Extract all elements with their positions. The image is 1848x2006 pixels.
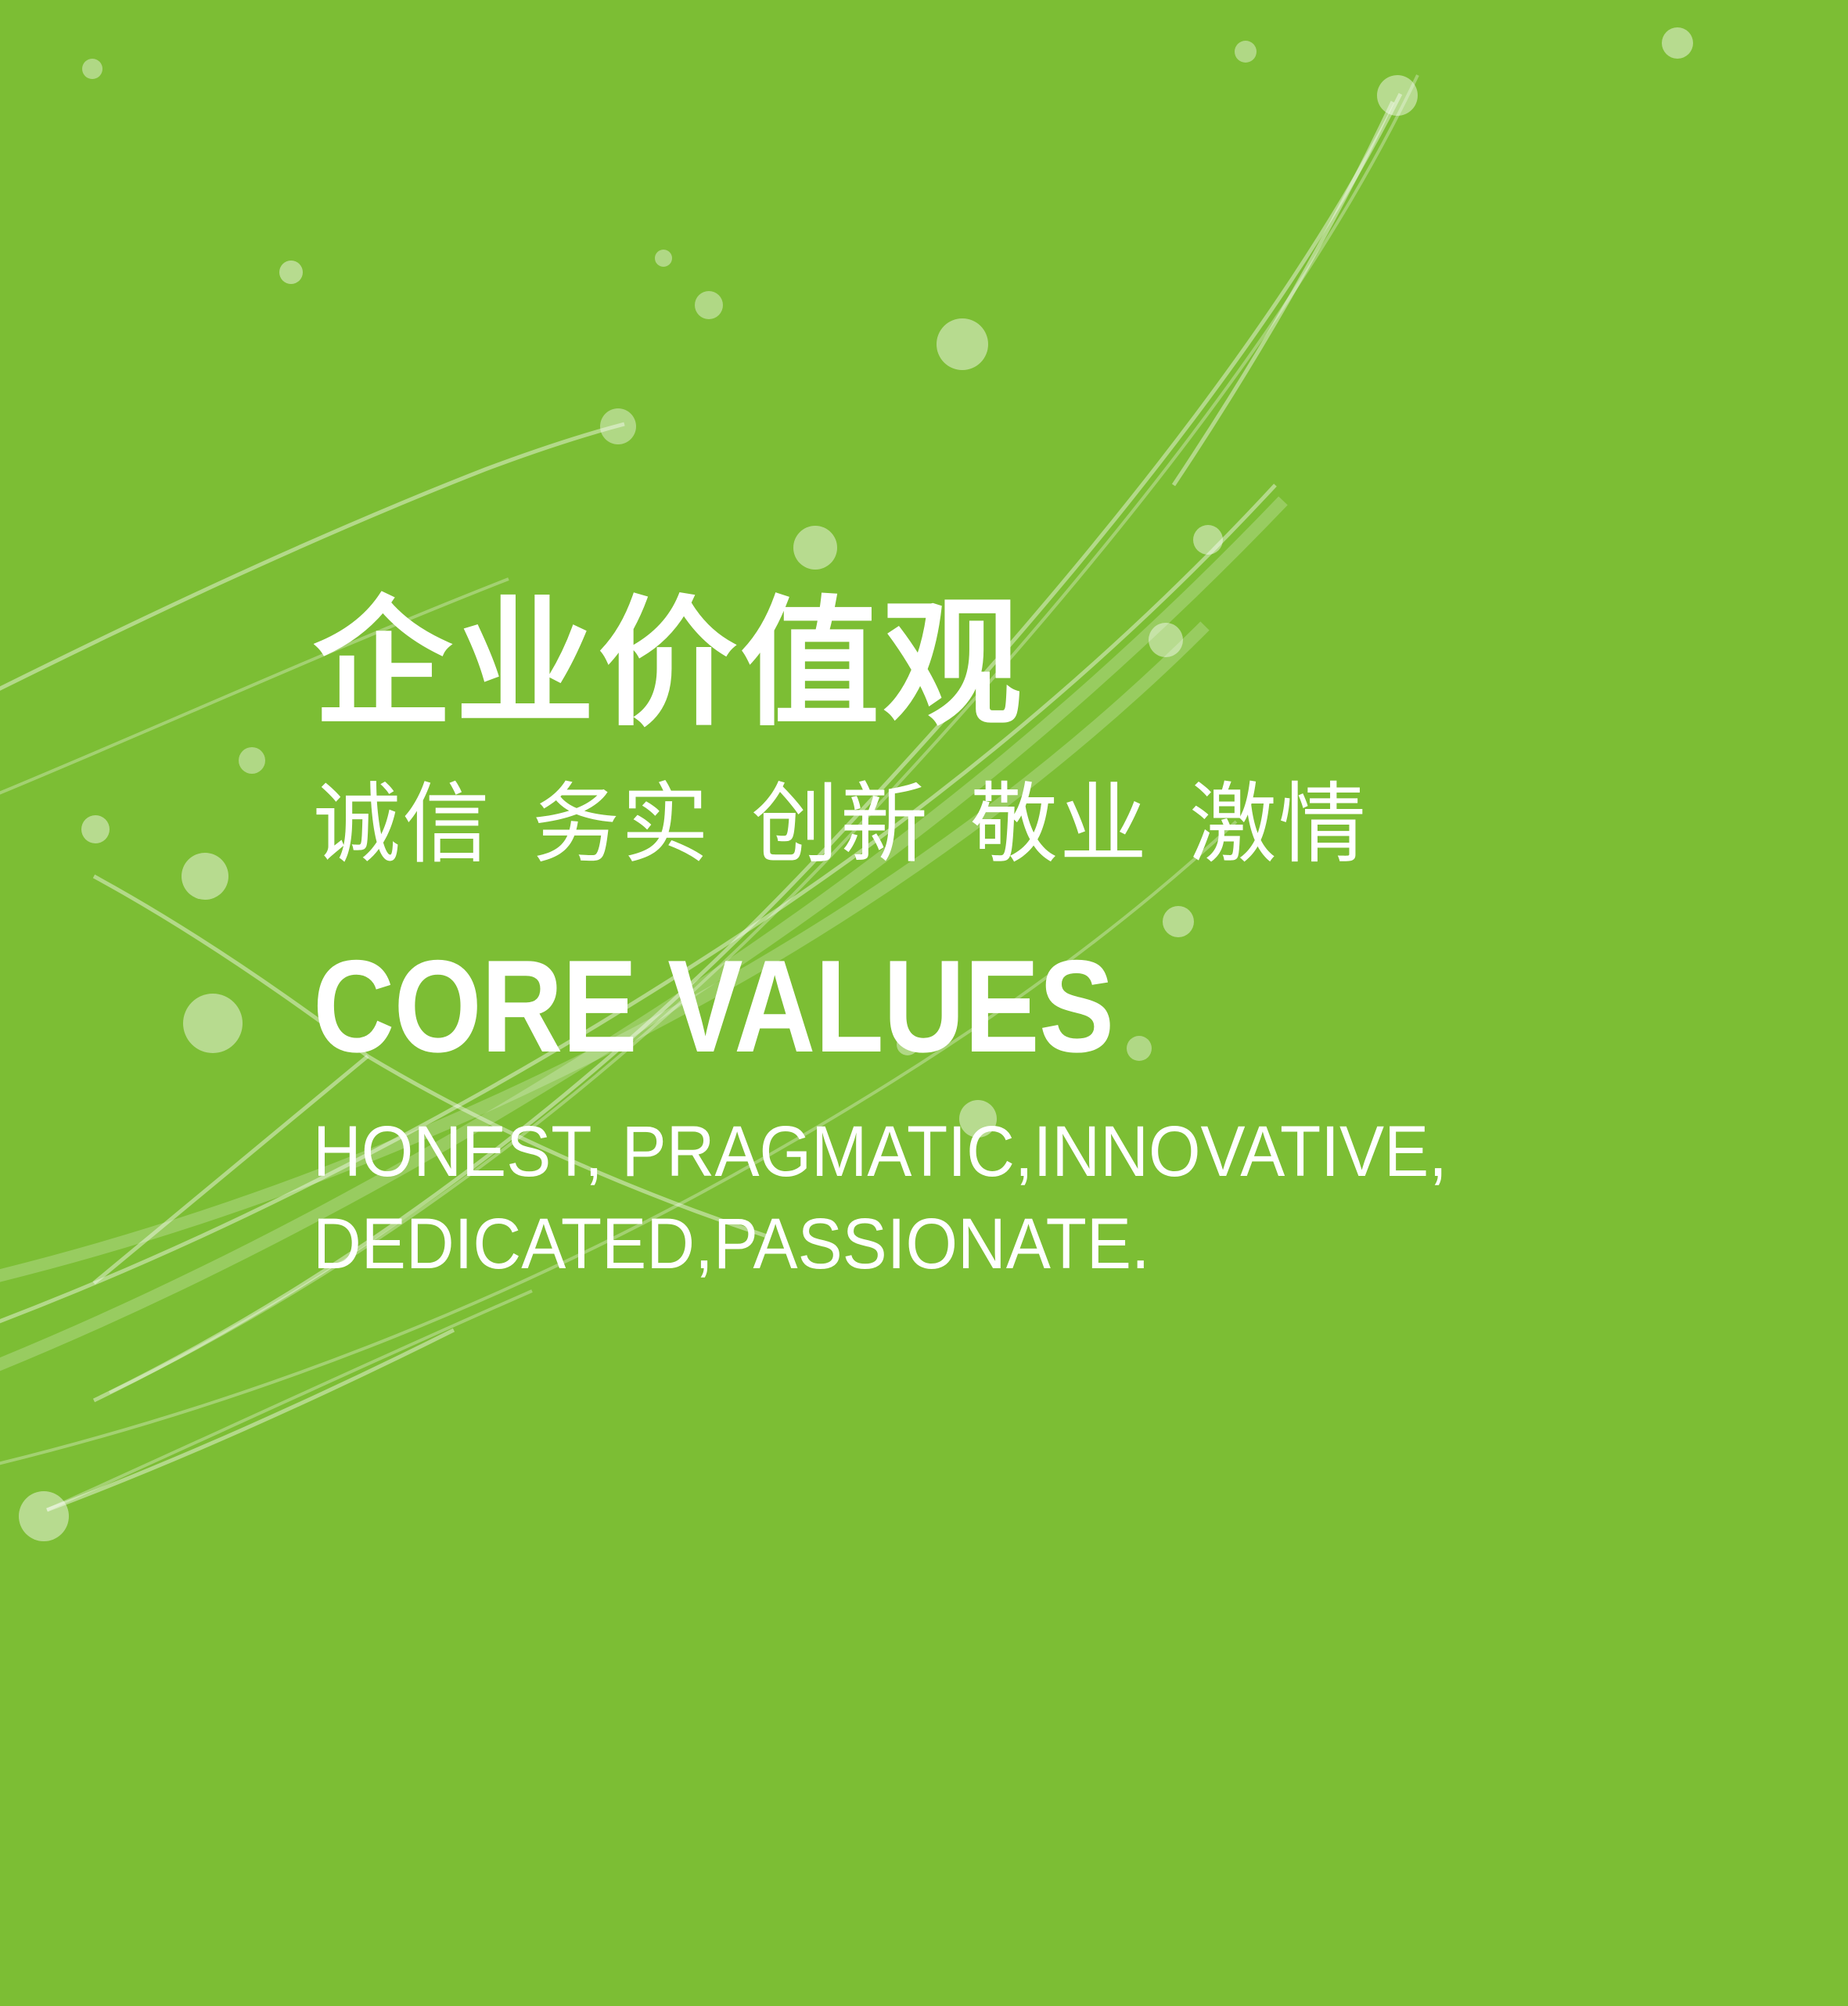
value-word-pragmatic-cn: 务实 [532,774,710,875]
values-english-line-1: HONEST, PRAGMATIC,INNOVATIVE, [313,1106,1594,1199]
value-word-dedicated-cn: 敬业 [970,774,1149,875]
page-title-english: CORE VALUES [313,940,1497,1072]
value-word-passionate-cn: 激情 [1189,774,1368,875]
values-list-chinese: 诚信务实创新敬业激情 [313,781,1690,868]
value-word-honest-cn: 诚信 [313,774,491,875]
headline-block: 企业价值观 诚信务实创新敬业激情 CORE VALUES HONEST, PRA… [313,595,1690,1291]
value-word-innovative-cn: 创新 [751,774,929,875]
values-english-line-2: DEDICATED,PASSIONATE. [313,1199,1594,1291]
page-title-chinese: 企业价值观 [313,595,1690,734]
core-values-banner: .ln { fill:none; stroke:#ffffff; stroke-… [0,0,1848,2006]
values-list-english: HONEST, PRAGMATIC,INNOVATIVE, DEDICATED,… [313,1106,1594,1291]
